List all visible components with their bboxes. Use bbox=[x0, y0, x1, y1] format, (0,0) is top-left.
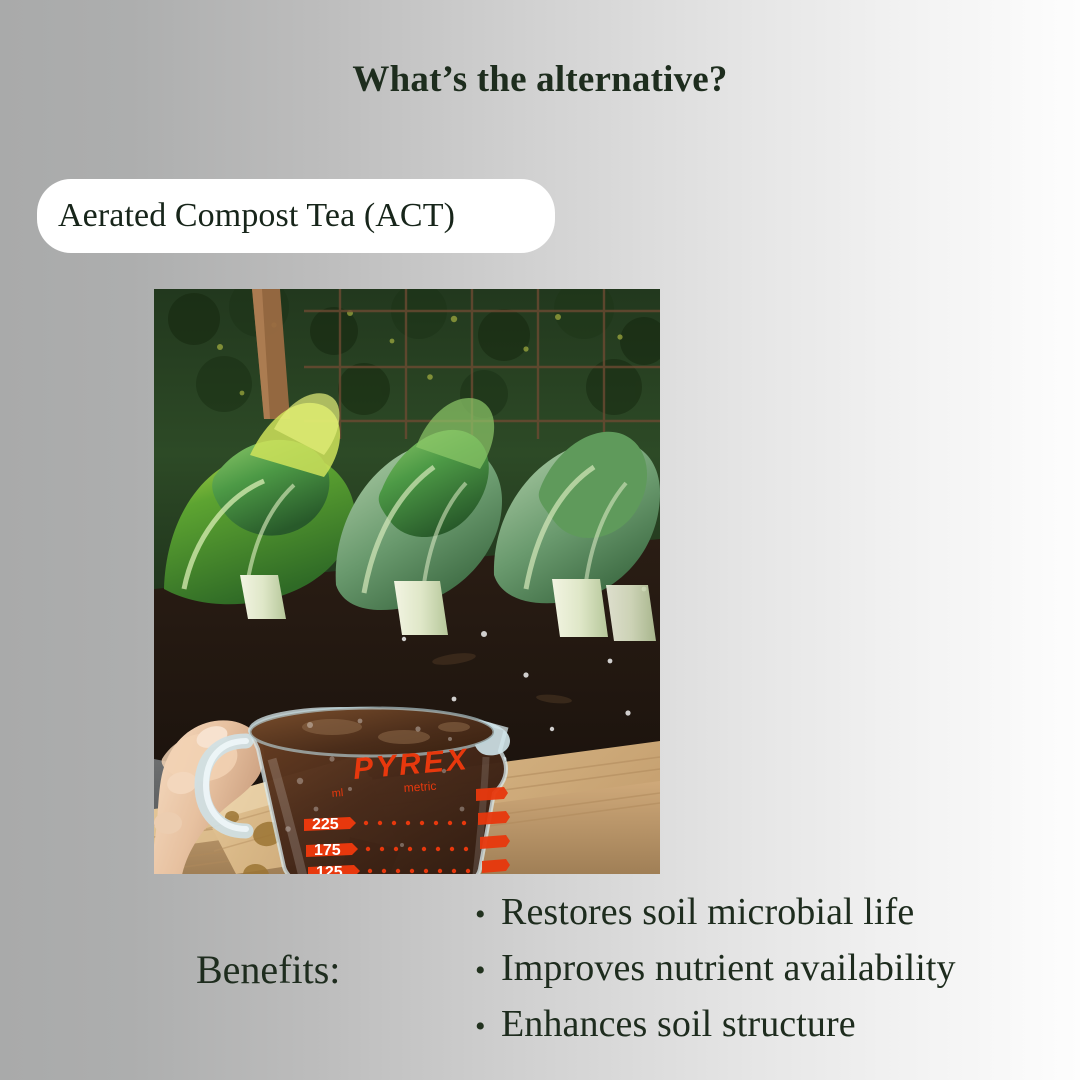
svg-text:ml: ml bbox=[331, 787, 344, 800]
list-item: • Restores soil microbial life bbox=[475, 890, 1075, 946]
svg-text:225: 225 bbox=[312, 816, 339, 833]
benefits-section: Benefits: • Restores soil microbial life… bbox=[150, 890, 1080, 1060]
benefits-list: • Restores soil microbial life • Improve… bbox=[475, 890, 1075, 1058]
svg-text:175: 175 bbox=[314, 842, 341, 859]
benefit-text: Enhances soil structure bbox=[501, 1002, 856, 1046]
benefit-text: Improves nutrient availability bbox=[501, 946, 956, 990]
topic-badge-label: Aerated Compost Tea (ACT) bbox=[37, 197, 455, 235]
bullet-icon: • bbox=[475, 900, 501, 930]
bullet-icon: • bbox=[475, 1012, 501, 1042]
list-item: • Enhances soil structure bbox=[475, 1002, 1075, 1058]
benefit-text: Restores soil microbial life bbox=[501, 890, 914, 934]
topic-badge: Aerated Compost Tea (ACT) bbox=[37, 179, 555, 253]
benefits-label: Benefits: bbox=[196, 946, 340, 993]
list-item: • Improves nutrient availability bbox=[475, 946, 1075, 1002]
slide-canvas: What’s the alternative? Aerated Compost … bbox=[0, 0, 1080, 1080]
svg-text:metric: metric bbox=[403, 779, 437, 795]
svg-text:125: 125 bbox=[316, 864, 343, 874]
page-title: What’s the alternative? bbox=[0, 58, 1080, 101]
bullet-icon: • bbox=[475, 956, 501, 986]
compost-tea-photo: PYREX ml metric 225 175 bbox=[154, 289, 660, 874]
